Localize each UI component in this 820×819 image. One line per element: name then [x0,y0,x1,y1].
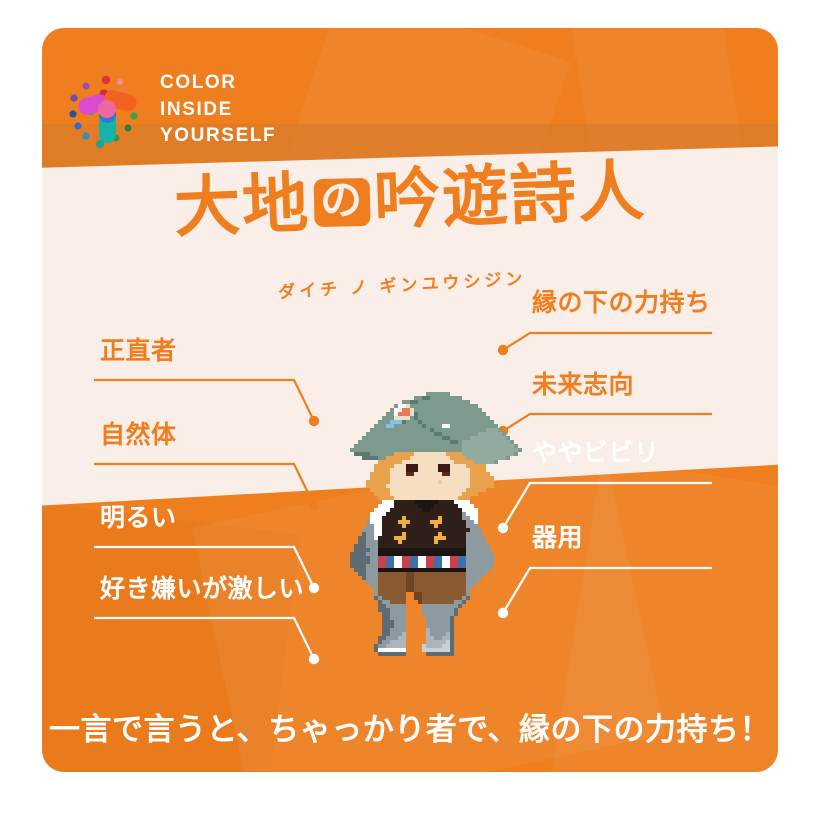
trait-label: 好き嫌いが激しい [100,569,304,605]
color-burst-logo-icon [64,68,148,152]
page-title: 大地の吟遊詩人 [173,157,647,240]
profile-card: COLOR INSIDE YOURSELF 大地の吟遊詩人 ダイチ ノ ギンユウ… [42,28,778,772]
pixel-bard-character [342,380,542,660]
title-particle-box: の [314,178,371,227]
brand-line-3: YOURSELF [160,123,276,150]
poster-canvas: COLOR INSIDE YOURSELF 大地の吟遊詩人 ダイチ ノ ギンユウ… [0,0,820,819]
brand-logo: COLOR INSIDE YOURSELF [64,68,354,152]
trait-label: 正直者 [100,331,177,367]
title-block: 大地の吟遊詩人 [42,166,778,232]
trait-label: ややビビリ [532,433,660,469]
brand-line-2: INSIDE [160,97,276,124]
brand-logo-text: COLOR INSIDE YOURSELF [160,70,276,150]
trait-label: 縁の下の力持ち [532,283,711,319]
trait-label: 自然体 [100,415,177,451]
brand-line-1: COLOR [160,70,276,97]
title-part-1: 大地 [173,166,312,245]
trait-label: 未来志向 [532,365,634,401]
title-part-2: 吟遊詩人 [373,153,648,237]
trait-label: 明るい [100,498,177,534]
summary-caption: 一言で言うと、ちゃっかり者で、縁の下の力持ち！ [42,704,778,749]
